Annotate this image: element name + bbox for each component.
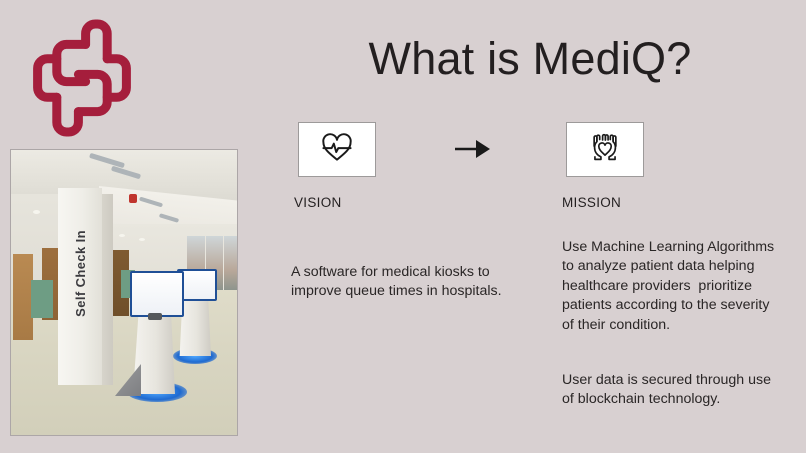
photo-kiosk-screen-front	[130, 271, 184, 317]
hospital-lobby-photo: Self Check In	[11, 150, 237, 435]
photo-kiosk-card-reader	[148, 313, 162, 320]
mediq-logo	[22, 18, 142, 138]
photo-window-mullion	[223, 236, 224, 298]
photo-downlight	[139, 238, 145, 241]
photo-door	[13, 254, 33, 340]
vision-icon-box	[298, 122, 376, 177]
self-check-in-text: Self Check In	[73, 230, 88, 317]
photo-kiosk-screen-content	[132, 273, 182, 315]
mission-column-label: MISSION	[562, 195, 621, 210]
vision-column-label: VISION	[294, 195, 342, 210]
slide-canvas: Self Check In What is MediQ?	[0, 0, 806, 453]
hands-holding-heart-icon	[590, 132, 620, 167]
page-title: What is MediQ?	[280, 34, 780, 84]
photo-downlight	[33, 210, 40, 214]
photo-kiosk-screen-content	[179, 271, 215, 299]
vision-description: A software for medical kiosks to improve…	[291, 263, 503, 302]
mission-security-note: User data is secured through use of bloc…	[562, 371, 778, 410]
right-arrow-icon	[452, 132, 492, 166]
mission-description: Use Machine Learning Algorithms to analy…	[562, 238, 778, 335]
photo-green-panel	[31, 280, 53, 318]
heart-pulse-icon	[321, 132, 353, 167]
photo-column-side	[102, 194, 113, 385]
photo-downlight	[119, 234, 125, 237]
photo-self-check-in-sign: Self Check In	[58, 198, 102, 348]
photo-red-alarm-light	[129, 194, 137, 203]
mission-icon-box	[566, 122, 644, 177]
